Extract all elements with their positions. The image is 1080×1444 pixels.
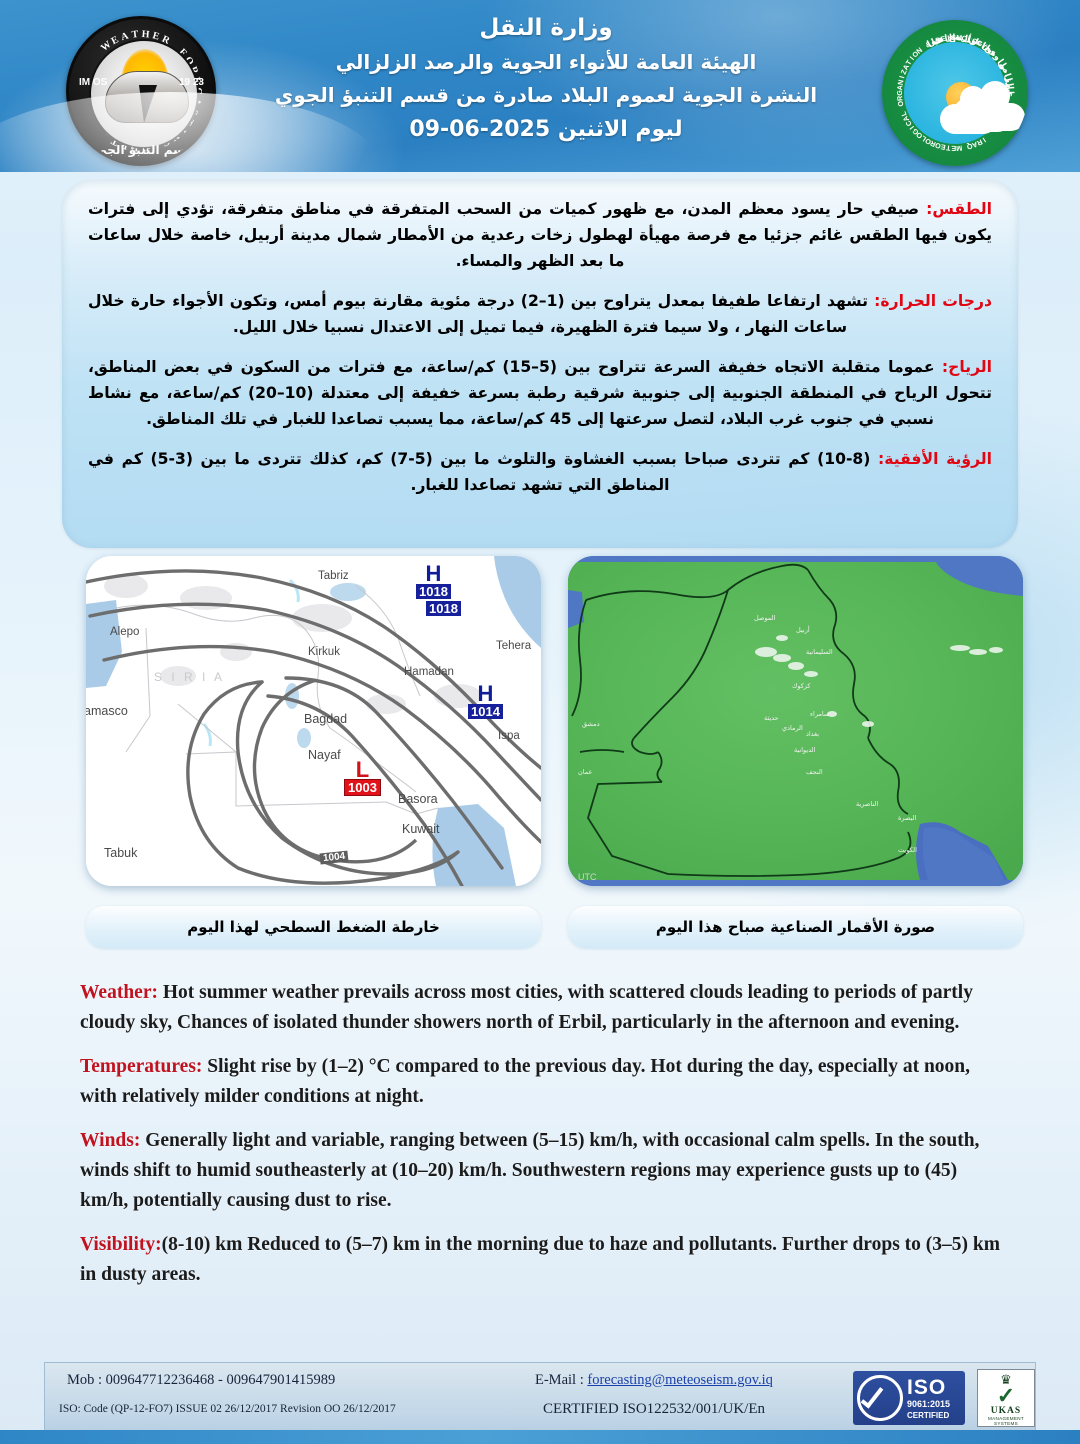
arabic-section-label: الرياح:: [942, 358, 992, 376]
arabic-section-label: الرؤية الأفقية:: [878, 450, 992, 468]
city-label-tabuk: Tabuk: [104, 846, 137, 860]
page-footer: Mob : 009647712236468 - 009647901415989 …: [44, 1362, 1036, 1432]
checkmark-icon: ✓: [978, 1386, 1034, 1406]
sat-city-erbil: أربيل: [796, 626, 810, 634]
pressure-map-caption: خارطة الضغط السطحي لهذا اليوم: [86, 906, 541, 948]
satellite-image-map[interactable]: الموصل أربيل السليمانية كركوك حديثة سامر…: [568, 556, 1023, 886]
english-paragraph: Visibility:(8-10) km Reduced to (5–7) km…: [80, 1230, 1000, 1290]
sat-city-baghdad: بغداد: [806, 730, 819, 738]
surface-pressure-map[interactable]: Tabriz Alepo Kirkuk Tehera Hamadan Bagda…: [86, 556, 541, 886]
cloud-icon: [105, 71, 189, 123]
english-section-text: Generally light and variable, ranging be…: [80, 1130, 979, 1211]
arabic-forecast-panel: الطقس: صيفي حار يسود معظم المدن، مع ظهور…: [62, 180, 1018, 548]
city-label-basora: Basora: [398, 792, 438, 806]
bulletin-subtitle: النشرة الجوية لعموم البلاد صادرة من قسم …: [236, 79, 856, 112]
english-section-label: Temperatures:: [80, 1056, 202, 1077]
logo-inner-emblem: [89, 39, 199, 149]
footer-mobile: Mob : 009647712236468 - 009647901415989: [67, 1372, 335, 1389]
logo-year: 19 23: [179, 77, 204, 88]
city-label-tehran: Tehera: [496, 640, 531, 652]
english-section-label: Winds:: [80, 1130, 140, 1151]
arabic-paragraph: الرياح: عموما متقلبة الاتجاه خفيفة السرع…: [88, 354, 992, 432]
arabic-section-label: الطقس:: [926, 200, 992, 218]
city-label-hamadan: Hamadan: [404, 666, 454, 678]
english-section-text: (8-10) km Reduced to (5–7) km in the mor…: [80, 1234, 1000, 1285]
city-label-damasco: amasco: [86, 704, 128, 718]
city-label-kirkuk: Kirkuk: [308, 646, 340, 658]
city-label-kuwait: Kuwait: [402, 822, 440, 836]
cloud-icon: [952, 98, 1014, 132]
arabic-paragraph: الطقس: صيفي حار يسود معظم المدن، مع ظهور…: [88, 196, 992, 274]
arabic-paragraph: درجات الحرارة: تشهد ارتفاعا طفيفا بمعدل …: [88, 288, 992, 340]
city-label-isfahan: Ispa: [498, 730, 520, 742]
imos-organization-logo: IRAQ METEOROLOGICAL ORGANIZATION & SEISM…: [882, 20, 1028, 166]
satellite-timestamp: UTC: [578, 872, 597, 882]
maps-row: Tabriz Alepo Kirkuk Tehera Hamadan Bagda…: [0, 556, 1080, 896]
ukas-badge-name: UKAS: [978, 1406, 1034, 1416]
satellite-map-caption: صورة الأقمار الصناعية صباح هذا اليوم: [568, 906, 1023, 948]
sat-city-kuwait: الكويت: [898, 846, 917, 854]
sat-city-ramadi: الرمادي: [782, 724, 803, 732]
footer-email-link[interactable]: forecasting@meteoseism.gov.iq: [587, 1372, 773, 1388]
sat-city-basra: البصرة: [898, 814, 916, 822]
sat-city-sulaymaniyah: السليمانية: [806, 648, 833, 656]
arabic-section-label: درجات الحرارة:: [874, 292, 992, 310]
english-section-text: Hot summer weather prevails across most …: [80, 982, 973, 1033]
city-label-bagdad: Bagdad: [304, 712, 347, 726]
footer-email-label: E-Mail :: [535, 1372, 587, 1388]
english-paragraph: Winds: Generally light and variable, ran…: [80, 1126, 1000, 1216]
authority-title: الهيئة العامة للأنواء الجوية والرصد الزل…: [236, 46, 856, 79]
pressure-high-1018b: 1018: [426, 600, 461, 618]
sat-city-samarra: سامراء: [810, 710, 829, 718]
bulletin-page: WEATHER FORECASTING DEPT. IM OS 19 23 قس…: [0, 0, 1080, 1444]
arabic-paragraph: الرؤية الأفقية: (8-10) كم تتردى صباحا بس…: [88, 446, 992, 498]
ukas-accreditation-badge: ♛ ✓ UKAS MANAGEMENT SYSTEMS: [977, 1369, 1035, 1427]
english-section-text: Slight rise by (1–2) °C compared to the …: [80, 1056, 970, 1107]
header-title-block: وزارة النقل الهيئة العامة للأنواء الجوية…: [236, 10, 856, 148]
iso-badge-standard: 9061:2015: [907, 1399, 950, 1409]
iso-badge-certified: CERTIFIED: [907, 1411, 949, 1420]
sat-city-kirkuk: كركوك: [792, 682, 811, 690]
pressure-high-1018a: H 1018: [416, 564, 451, 601]
english-paragraph: Weather: Hot summer weather prevails acr…: [80, 978, 1000, 1038]
logo-arabic-caption: قسم التنبؤ الجوي: [69, 143, 213, 157]
city-label-alepo: Alepo: [110, 626, 139, 638]
sat-city-damascus: دمشق: [582, 720, 600, 728]
ukas-badge-sub: MANAGEMENT SYSTEMS: [978, 1416, 1034, 1426]
satellite-map-graphic: [568, 556, 1023, 886]
iso-badge-word: ISO: [907, 1376, 946, 1400]
sat-city-mosul: الموصل: [754, 614, 775, 622]
english-section-label: Visibility:: [80, 1234, 162, 1255]
ministry-title: وزارة النقل: [236, 10, 856, 46]
logo-left-code: IM OS: [79, 77, 107, 88]
iso-certification-badge: ISO 9061:2015 CERTIFIED: [853, 1371, 965, 1425]
english-paragraph: Temperatures: Slight rise by (1–2) °C co…: [80, 1052, 1000, 1112]
arabic-section-text: (8-10) كم تتردى صباحا بسبب الغشاوة والتل…: [88, 450, 878, 494]
sat-city-amman: عمان: [578, 768, 592, 776]
lightning-bolt-icon: [135, 85, 157, 123]
page-header: WEATHER FORECASTING DEPT. IM OS 19 23 قس…: [0, 0, 1080, 172]
logo-sky-disc: [904, 42, 1006, 144]
arabic-section-text: صيفي حار يسود معظم المدن، مع ظهور كميات …: [88, 200, 992, 270]
footer-iso-code: ISO: Code (QP-12-FO7) ISSUE 02 26/12/201…: [59, 1403, 396, 1415]
english-forecast-block: Weather: Hot summer weather prevails acr…: [62, 964, 1018, 1350]
sat-city-diwaniyah: الديوانية: [794, 746, 815, 754]
sat-city-haditha: حديثة: [764, 714, 779, 722]
bottom-accent-strip: [0, 1430, 1080, 1444]
english-section-label: Weather:: [80, 982, 158, 1003]
sat-city-nasiriyah: الناصرية: [856, 800, 878, 808]
arabic-section-text: عموما متقلبة الاتجاه خفيفة السرعة تتراوح…: [88, 358, 992, 428]
city-label-nayaf: Nayaf: [308, 748, 341, 762]
footer-certified: CERTIFIED ISO122532/001/UK/En: [543, 1401, 765, 1418]
city-label-tabriz: Tabriz: [318, 570, 349, 582]
bulletin-date: ليوم الاثنين 2025-06-09: [236, 112, 856, 148]
country-label-siria: S I R I A: [154, 670, 225, 684]
pressure-low-1003: L 1003: [344, 760, 381, 797]
arabic-section-text: تشهد ارتفاعا طفيفا بمعدل يتراوح بين (1–2…: [88, 292, 874, 336]
pressure-high-1014: H 1014: [468, 684, 503, 721]
footer-email-line: E-Mail : forecasting@meteoseism.gov.iq: [535, 1372, 773, 1389]
weather-forecasting-dept-logo: WEATHER FORECASTING DEPT. IM OS 19 23 قس…: [66, 16, 216, 166]
sat-city-najaf: النجف: [806, 768, 823, 776]
